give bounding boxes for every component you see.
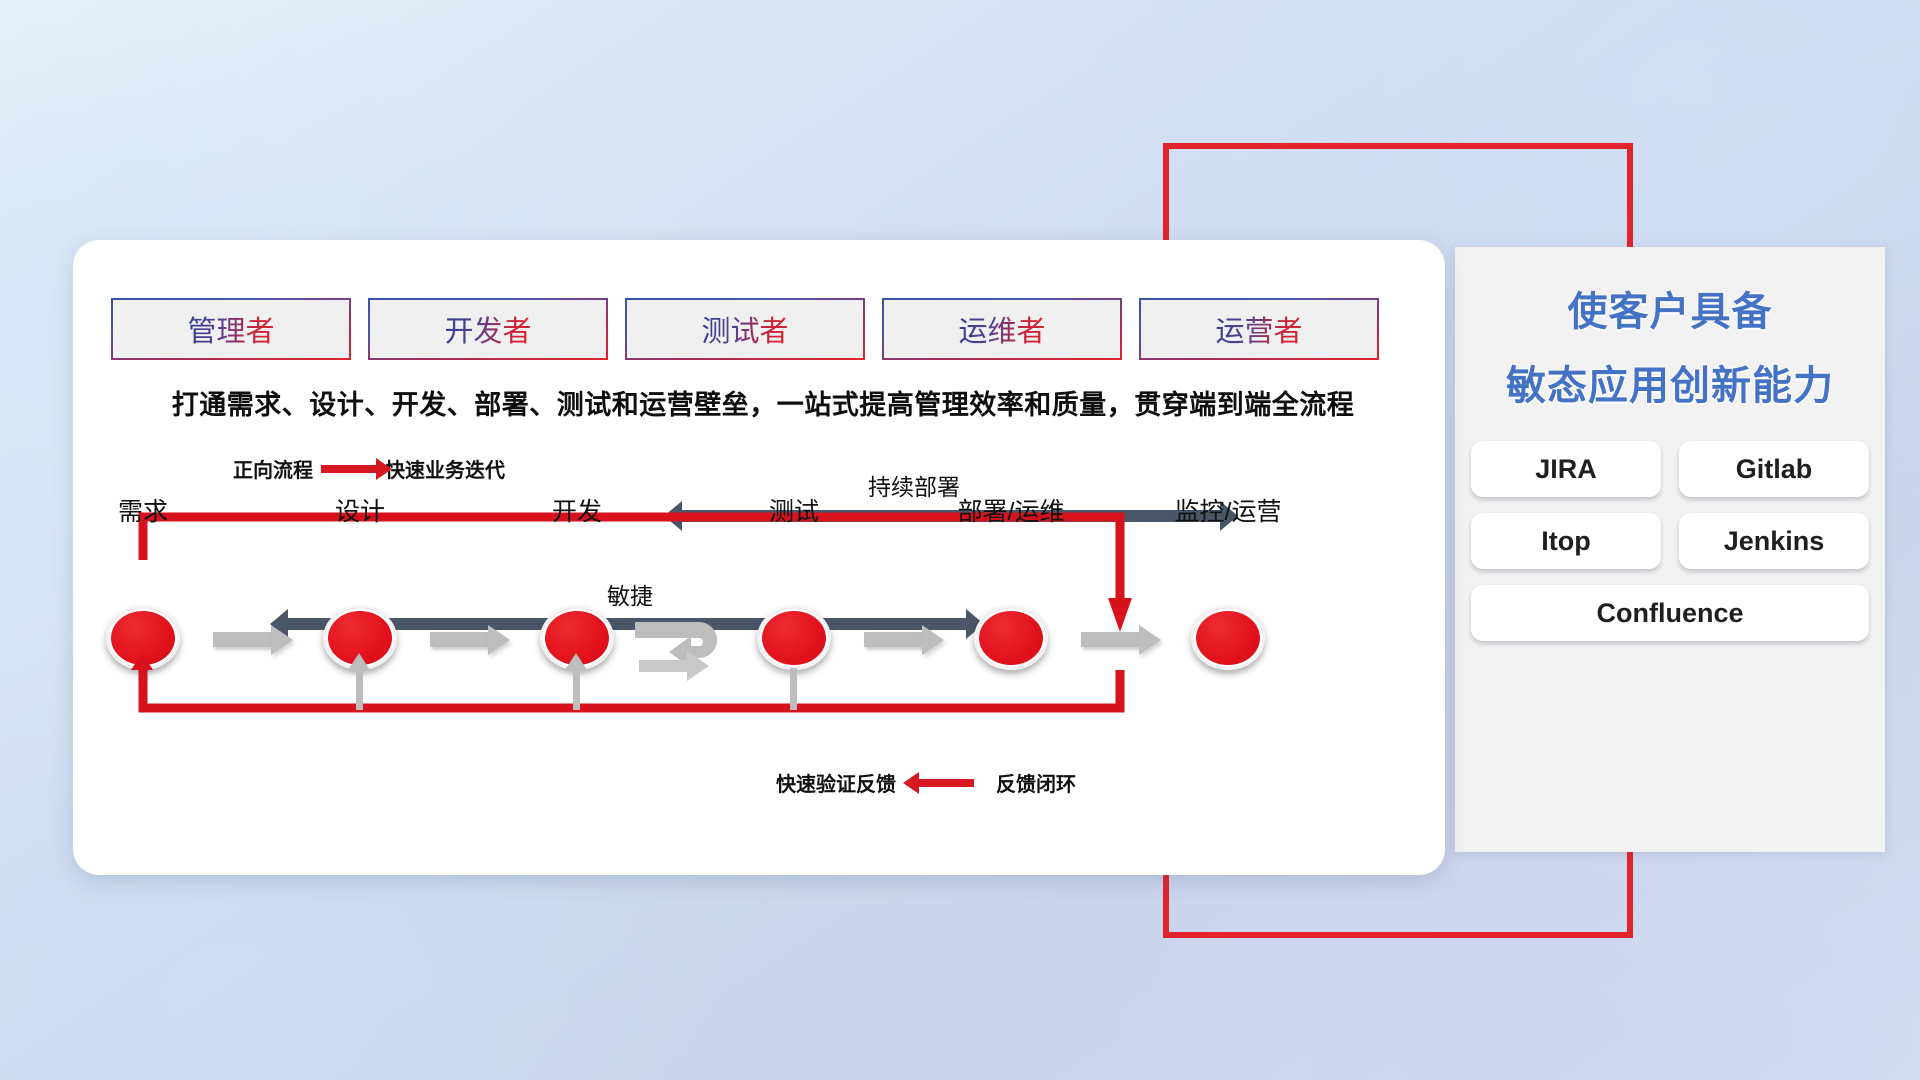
legend-feedback-left-label: 快速验证反馈 [776, 768, 896, 797]
main-card: 管理者 开发者 测试者 运维者 运营者 打通需求、设计、开发、部署、测试和运营壁… [73, 240, 1445, 875]
role-label: 运营者 [1215, 308, 1302, 350]
pipeline-node-label: 开发 [552, 492, 602, 528]
tool-chip-list: JIRA Gitlab Itop Jenkins Confluence [1455, 441, 1885, 641]
node-stem-develop [573, 668, 580, 710]
pipeline-node-label: 需求 [118, 492, 168, 528]
pipeline-node-label: 测试 [769, 492, 819, 528]
node-circle-icon [974, 606, 1048, 670]
node-stem-design [356, 668, 363, 710]
right-panel: 使客户具备 敏态应用创新能力 JIRA Gitlab Itop Jenkins … [1455, 247, 1885, 852]
node-circle-icon [1191, 606, 1265, 670]
iteration-loop-icon [633, 612, 743, 686]
tool-chip-itop[interactable]: Itop [1471, 513, 1661, 569]
node-circle-icon [757, 606, 831, 670]
tool-chip-confluence[interactable]: Confluence [1471, 585, 1869, 641]
slide-canvas: 使客户具备 敏态应用创新能力 JIRA Gitlab Itop Jenkins … [0, 0, 1920, 1080]
flow-arrow-2-icon [430, 625, 510, 651]
node-stem-requirement [139, 668, 146, 710]
pipeline-node-label: 设计 [335, 492, 385, 528]
arrow-left-icon [918, 779, 974, 787]
tool-chip-jira[interactable]: JIRA [1471, 441, 1661, 497]
node-stem-test [790, 668, 797, 710]
role-label: 开发者 [444, 308, 531, 350]
right-panel-title-line1: 使客户具备 [1455, 279, 1885, 337]
legend-feedback-loop: 快速验证反馈 反馈闭环 [776, 768, 1076, 797]
pipeline-node-label: 监控/运营 [1175, 492, 1282, 528]
flow-arrow-1-icon [213, 625, 293, 651]
right-panel-title-line2: 敏态应用创新能力 [1455, 353, 1885, 411]
pipeline-node-label: 部署/运维 [958, 492, 1065, 528]
flow-arrow-5-icon [1081, 625, 1161, 651]
tool-chip-gitlab[interactable]: Gitlab [1679, 441, 1869, 497]
flow-arrow-4-icon [864, 625, 944, 651]
legend-feedback-right-label: 反馈闭环 [996, 768, 1076, 797]
role-label: 运维者 [958, 308, 1045, 350]
tool-chip-jenkins[interactable]: Jenkins [1679, 513, 1869, 569]
role-label: 测试者 [701, 308, 788, 350]
role-label: 管理者 [187, 308, 274, 350]
